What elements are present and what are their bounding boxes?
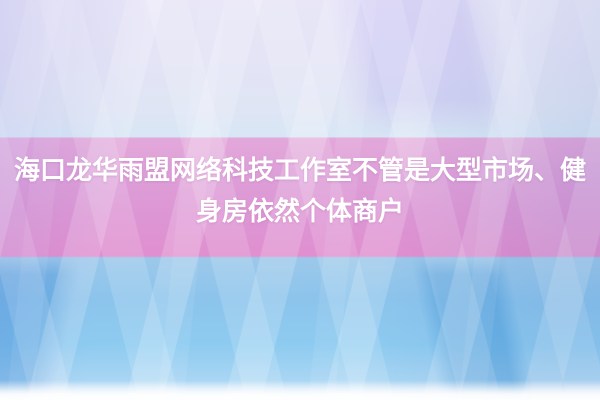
banner-headline: 海口龙华雨盟网络科技工作室不管是大型市场、健身房依然个体商户 — [0, 150, 600, 232]
bottom-fade-strip — [0, 380, 600, 400]
promotional-banner: 海口龙华雨盟网络科技工作室不管是大型市场、健身房依然个体商户 — [0, 0, 600, 400]
